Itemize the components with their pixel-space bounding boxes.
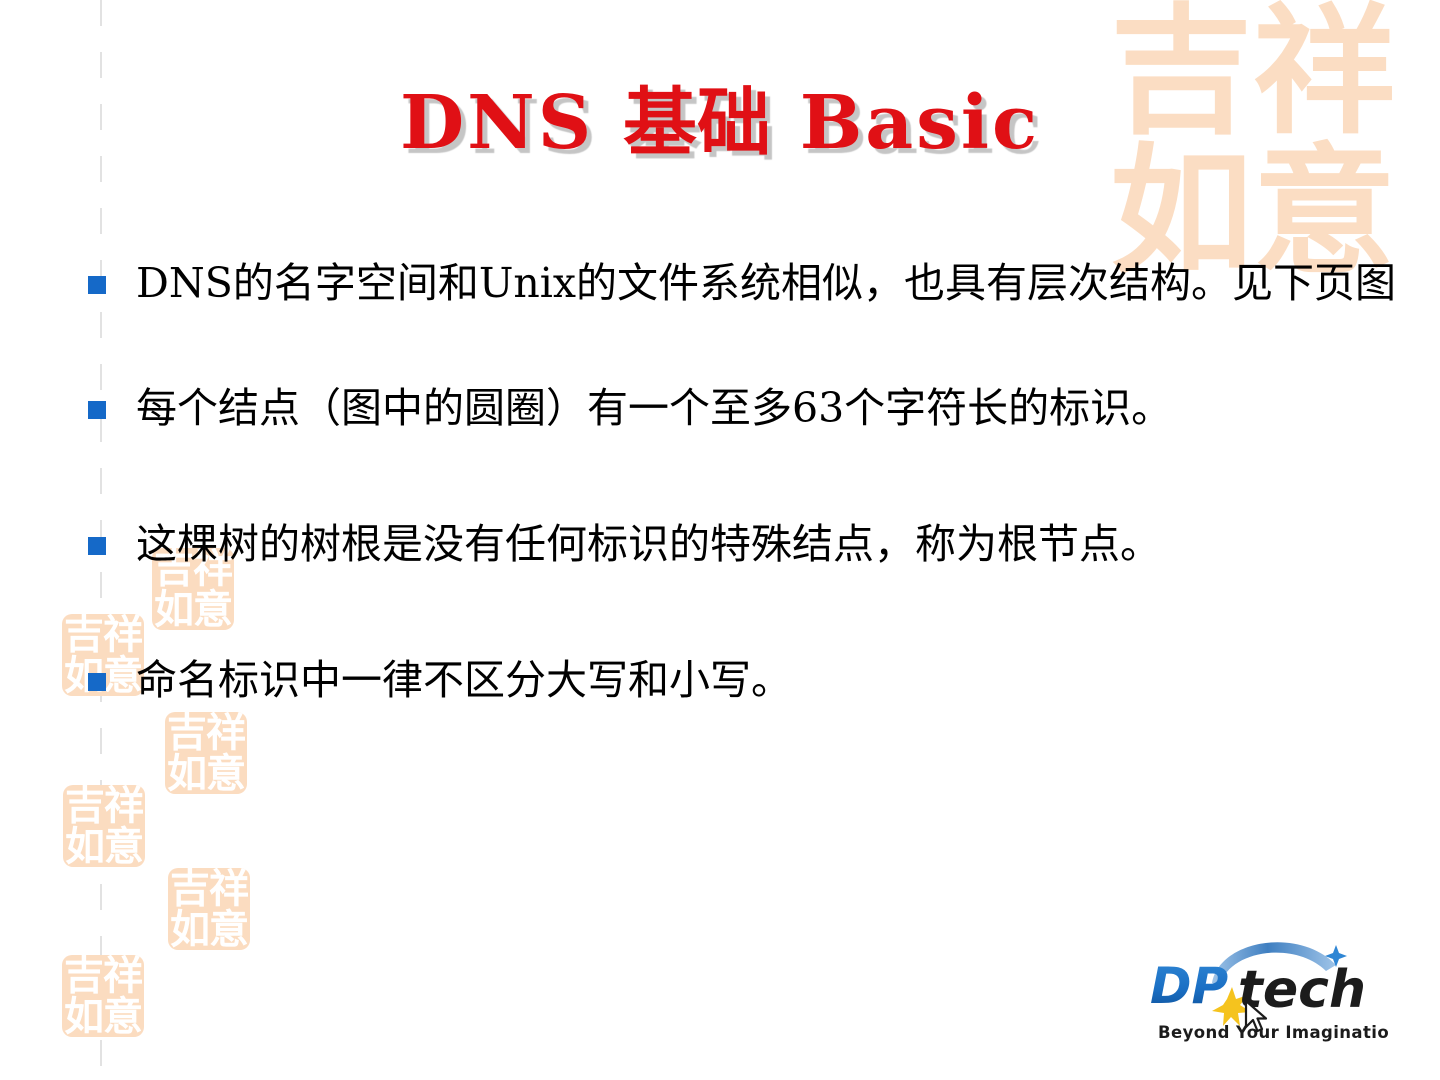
- watermark-seal-stamp: 吉祥 如意: [62, 955, 144, 1037]
- logo-tech-text: tech: [1238, 960, 1366, 1020]
- list-item: 命名标识中一律不区分大写和小写。: [88, 651, 1408, 710]
- watermark-seal-stamp-line2: 如意: [62, 996, 144, 1037]
- square-bullet-icon: [88, 537, 106, 555]
- watermark-seal-stamp: 吉祥 如意: [63, 785, 145, 867]
- watermark-seal-stamp-line1: 吉祥: [168, 868, 250, 909]
- square-bullet-icon: [88, 276, 106, 294]
- watermark-seal-stamp-line2: 如意: [63, 826, 145, 867]
- logo-tagline-text: Beyond Your Imagination: [1158, 1023, 1390, 1042]
- watermark-seal-stamp-line2: 如意: [168, 909, 250, 950]
- slide-title-latin-1: DNS: [400, 80, 594, 166]
- watermark-seal-stamp-line2: 如意: [165, 753, 247, 794]
- list-item: DNS的名字空间和Unix的文件系统相似，也具有层次结构。见下页图: [88, 254, 1408, 313]
- square-bullet-icon: [88, 673, 106, 691]
- slide-title: DNS 基础 Basic: [0, 78, 1440, 168]
- list-item: 每个结点（图中的圆圈）有一个至多63个字符长的标识。: [88, 379, 1408, 438]
- list-item: 这棵树的树根是没有任何标识的特殊结点，称为根节点。: [88, 515, 1408, 574]
- logo-dp-text: DP: [1150, 957, 1228, 1015]
- bullet-text: 每个结点（图中的圆圈）有一个至多63个字符长的标识。: [136, 379, 1408, 438]
- slide-title-latin-2: Basic: [800, 80, 1040, 166]
- slide-title-cjk: 基础: [623, 80, 771, 166]
- square-bullet-icon: [88, 401, 106, 419]
- watermark-seal-stamp-line1: 吉祥: [63, 785, 145, 826]
- slide-body: DNS的名字空间和Unix的文件系统相似，也具有层次结构。见下页图 每个结点（图…: [88, 254, 1408, 710]
- bullet-text: DNS的名字空间和Unix的文件系统相似，也具有层次结构。见下页图: [136, 254, 1408, 313]
- watermark-seal-stamp: 吉祥 如意: [168, 868, 250, 950]
- slide-canvas: 吉祥 如意 吉祥 如意 吉祥 如意 吉祥 如意 吉祥 如意 吉祥 如意 吉祥 如…: [0, 0, 1440, 1080]
- watermark-seal-stamp-line1: 吉祥: [165, 712, 247, 753]
- watermark-seal-stamp-line1: 吉祥: [62, 955, 144, 996]
- bullet-text: 命名标识中一律不区分大写和小写。: [136, 651, 1408, 710]
- dptech-logo: DP tech Beyond Your Imagination: [1150, 925, 1390, 1045]
- bullet-text: 这棵树的树根是没有任何标识的特殊结点，称为根节点。: [136, 515, 1408, 574]
- watermark-seal-stamp: 吉祥 如意: [165, 712, 247, 794]
